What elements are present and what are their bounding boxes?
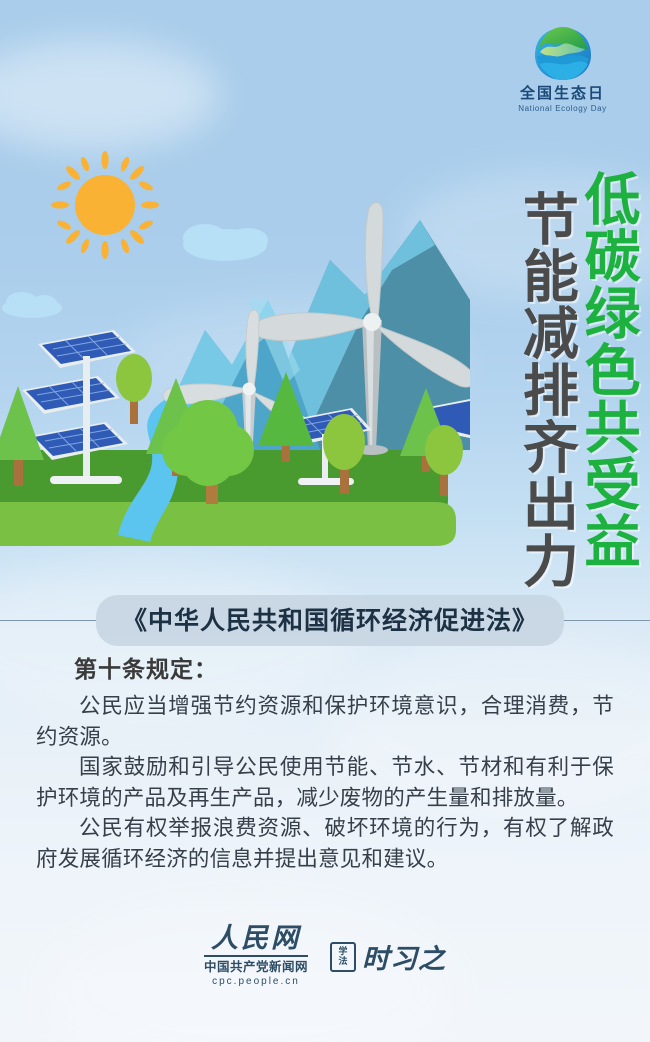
article-paragraph: 公民应当增强节约资源和保护环境意识，合理消费，节约资源。	[36, 692, 614, 753]
footer-logos: 人民网 中国共产党新闻网 cpc.people.cn 学 法 时习之	[0, 925, 650, 987]
study-law-text: 时习之	[362, 937, 446, 976]
people-cn-subtitle: 中国共产党新闻网	[204, 960, 308, 975]
people-cn-url: cpc.people.cn	[204, 976, 308, 987]
cloud-icon	[183, 224, 268, 261]
article-paragraph: 公民有权举报浪费资源、破坏环境的行为，有权了解政府发展循环经济的信息并提出意见和…	[36, 814, 614, 875]
poster-root: 全国生态日 National Ecology Day	[0, 0, 650, 1042]
ecology-emblem-icon	[528, 22, 598, 84]
article-body: 第十条规定： 公民应当增强节约资源和保护环境意识，合理消费，节约资源。 国家鼓励…	[0, 650, 650, 875]
people-cn-brand: 人民网	[204, 925, 308, 952]
people-cn-logo[interactable]: 人民网 中国共产党新闻网 cpc.people.cn	[204, 925, 308, 987]
logo-title-cn: 全国生态日	[505, 86, 620, 103]
green-energy-illustration	[0, 150, 470, 570]
national-ecology-day-logo: 全国生态日 National Ecology Day	[505, 22, 620, 113]
solar-panel	[22, 376, 120, 414]
sun-icon	[51, 151, 159, 259]
illustration-svg	[0, 150, 470, 570]
logo-title-en: National Ecology Day	[505, 104, 620, 113]
law-title-banner: 《中华人民共和国循环经济促进法》	[0, 595, 650, 646]
headline-dark-column: 节能减排齐出力	[517, 190, 575, 589]
background-cloud-wash	[0, 40, 220, 150]
divider-line-right	[564, 620, 650, 621]
tree-round	[116, 354, 152, 424]
clause-heading: 第十条规定：	[74, 650, 614, 684]
people-cn-rule	[204, 955, 308, 957]
article-paragraph: 国家鼓励和引导公民使用节能、节水、节材和有利于保护环境的产品及再生产品，减少废物…	[36, 753, 614, 814]
study-law-badge: 学 法	[330, 942, 356, 972]
law-title-pill: 《中华人民共和国循环经济促进法》	[96, 595, 564, 646]
divider-line-left	[0, 620, 96, 621]
study-law-logo[interactable]: 学 法 时习之	[330, 937, 446, 976]
cloud-icon	[2, 292, 62, 318]
study-law-badge-bottom: 法	[338, 957, 347, 966]
headline-green-column: 低碳绿色共受益	[578, 170, 636, 569]
vertical-headline: 节能减排齐出力 低碳绿色共受益	[517, 170, 636, 589]
